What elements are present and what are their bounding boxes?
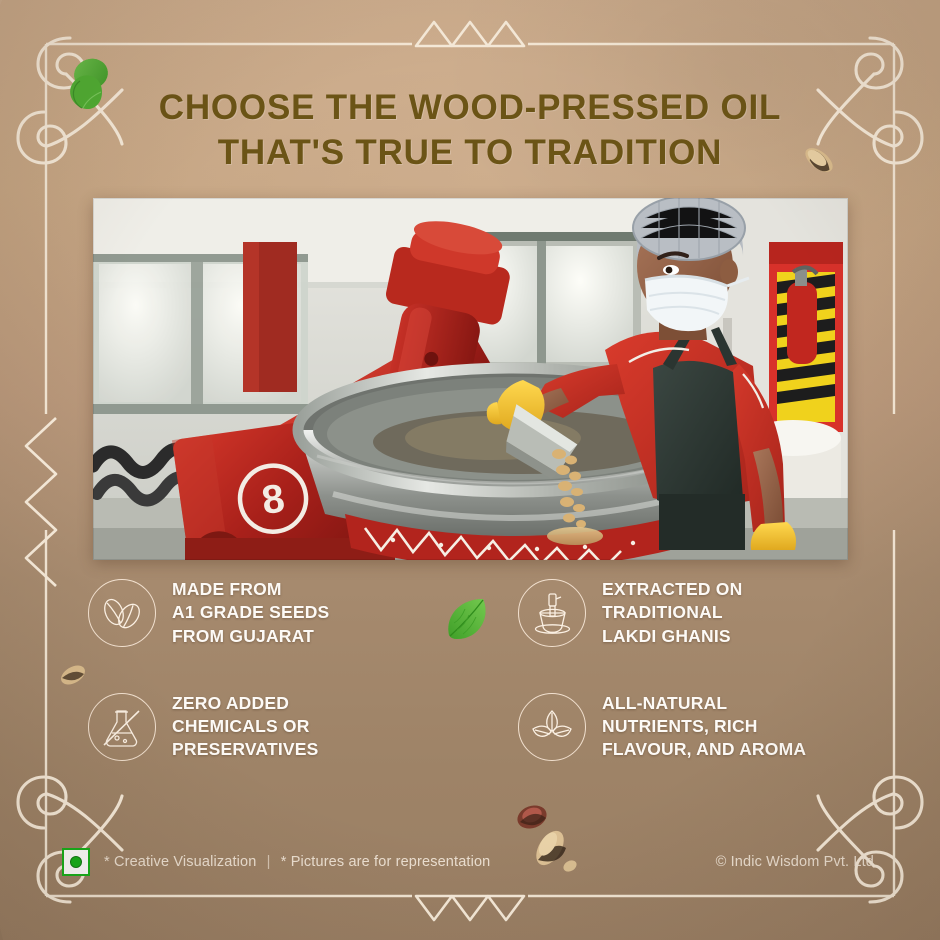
feature-item-1: EXTRACTED ON TRADITIONAL LAKDI GHANIS	[518, 578, 878, 648]
seed-left-middle-decoration	[56, 658, 90, 697]
page-title: CHOOSE THE WOOD-PRESSED OIL THAT'S TRUE …	[0, 86, 940, 176]
feature-text-0: MADE FROM A1 GRADE SEEDS FROM GUJARAT	[172, 578, 329, 648]
hero-photo: 8	[93, 198, 848, 560]
footer-note-1: * Creative Visualization	[104, 854, 256, 870]
feature-2-line-1: CHEMICALS OR	[172, 715, 319, 738]
footer-separator: |	[261, 854, 277, 870]
feature-3-line-1: NUTRIENTS, RICH	[602, 715, 806, 738]
feature-1-line-0: EXTRACTED ON	[602, 578, 742, 601]
feature-item-2: ZERO ADDED CHEMICALS OR PRESERVATIVES	[88, 692, 518, 762]
feature-1-line-2: LAKDI GHANIS	[602, 625, 742, 648]
feature-item-3: ALL-NATURAL NUTRIENTS, RICH FLAVOUR, AND…	[518, 692, 878, 762]
footer-disclaimer: * Creative Visualization | * Pictures ar…	[104, 854, 490, 870]
left-border-ornament	[26, 418, 56, 586]
feature-text-3: ALL-NATURAL NUTRIENTS, RICH FLAVOUR, AND…	[602, 692, 806, 762]
feature-0-line-2: FROM GUJARAT	[172, 625, 329, 648]
feature-3-line-2: FLAVOUR, AND AROMA	[602, 738, 806, 761]
title-line-1: CHOOSE THE WOOD-PRESSED OIL	[0, 86, 940, 131]
vegetarian-mark-dot	[70, 856, 82, 868]
no-chemicals-flask-icon	[88, 693, 156, 761]
vegetarian-mark-icon	[62, 848, 90, 876]
leaf-sprout-icon	[518, 693, 586, 761]
feature-text-1: EXTRACTED ON TRADITIONAL LAKDI GHANIS	[602, 578, 742, 648]
seeds-icon	[88, 579, 156, 647]
seed-bottom-center-decoration	[512, 800, 554, 841]
mortar-pestle-icon	[518, 579, 586, 647]
footer-note-2: * Pictures are for representation	[281, 854, 491, 870]
feature-0-line-0: MADE FROM	[172, 578, 329, 601]
top-border-ornament	[416, 22, 524, 46]
hero-photo-illustration: 8	[93, 198, 848, 560]
feature-3-line-0: ALL-NATURAL	[602, 692, 806, 715]
feature-0-line-1: A1 GRADE SEEDS	[172, 601, 329, 624]
corner-ornament-bottom-right	[818, 777, 922, 902]
footer: * Creative Visualization | * Pictures ar…	[62, 848, 878, 876]
feature-text-2: ZERO ADDED CHEMICALS OR PRESERVATIVES	[172, 692, 319, 762]
title-line-2: THAT'S TRUE TO TRADITION	[0, 131, 940, 176]
corner-ornament-bottom-left	[18, 777, 122, 902]
poster-canvas: CHOOSE THE WOOD-PRESSED OIL THAT'S TRUE …	[0, 0, 940, 940]
features-grid: MADE FROM A1 GRADE SEEDS FROM GUJARAT	[88, 578, 878, 762]
feature-1-line-1: TRADITIONAL	[602, 601, 742, 624]
feature-2-line-0: ZERO ADDED	[172, 692, 319, 715]
bottom-border-ornament	[416, 896, 524, 920]
feature-2-line-2: PRESERVATIVES	[172, 738, 319, 761]
feature-item-0: MADE FROM A1 GRADE SEEDS FROM GUJARAT	[88, 578, 518, 648]
copyright-text: © Indic Wisdom Pvt. Ltd	[716, 854, 878, 870]
